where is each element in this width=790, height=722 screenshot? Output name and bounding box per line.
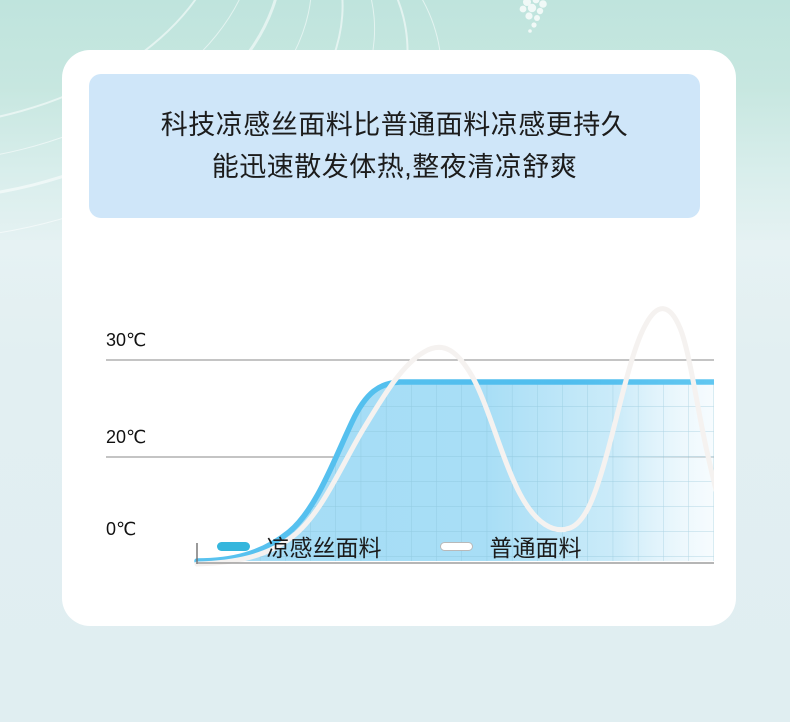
legend-hollow-bar-icon: [440, 542, 473, 551]
legend-solid-bar-icon: [217, 542, 250, 551]
lace-flower-icon: [505, 0, 565, 42]
content-card: 科技凉感丝面料比普通面料凉感更持久 能迅速散发体热,整夜清凉舒爽: [62, 50, 736, 626]
headline-panel: 科技凉感丝面料比普通面料凉感更持久 能迅速散发体热,整夜清凉舒爽: [89, 74, 700, 218]
legend-label-cool-fabric: 凉感丝面料: [267, 529, 382, 563]
headline-line-1: 科技凉感丝面料比普通面料凉感更持久: [161, 106, 629, 144]
legend-label-ordinary-fabric: 普通面料: [490, 529, 582, 563]
ytick-label-30c: 30℃: [106, 330, 146, 350]
legend-item-ordinary-fabric[interactable]: 普通面料: [440, 529, 582, 563]
headline-line-2: 能迅速散发体热,整夜清凉舒爽: [212, 148, 578, 186]
chart-legend: 凉感丝面料 普通面料: [62, 522, 736, 570]
ytick-label-20c: 20℃: [106, 427, 146, 447]
legend-item-cool-fabric[interactable]: 凉感丝面料: [217, 529, 382, 563]
page-root: 科技凉感丝面料比普通面料凉感更持久 能迅速散发体热,整夜清凉舒爽: [0, 0, 790, 722]
